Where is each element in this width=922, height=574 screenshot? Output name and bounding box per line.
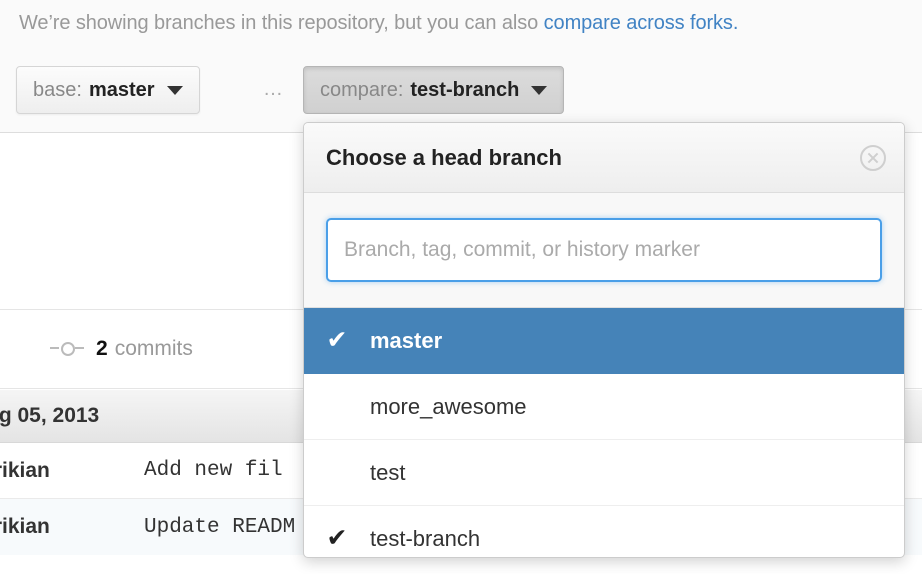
base-branch-prefix: base:: [33, 80, 82, 100]
list-item[interactable]: ✔ master: [304, 308, 904, 374]
list-item[interactable]: ✔ test-branch: [304, 506, 904, 558]
chevron-down-icon: [167, 86, 183, 95]
commits-summary: 2 commits: [50, 337, 193, 361]
branch-name: test-branch: [370, 526, 480, 552]
commit-date-label: ug 05, 2013: [0, 404, 99, 428]
branch-filter-input[interactable]: [326, 218, 882, 282]
commit-author: torikian: [0, 459, 144, 483]
branch-notice-text: We’re showing branches in this repositor…: [19, 12, 738, 35]
commits-label: commits: [115, 337, 193, 361]
base-branch-button[interactable]: base: master: [16, 66, 200, 114]
commit-author: torikian: [0, 515, 144, 539]
head-branch-dropdown: Choose a head branch ✔ master more_aweso…: [303, 122, 905, 558]
notice-text-before: We’re showing branches in this repositor…: [19, 12, 544, 34]
branch-list: ✔ master more_awesome test ✔ test-branch: [304, 308, 904, 558]
base-branch-value: master: [89, 80, 155, 100]
commit-message: Update READM: [144, 516, 295, 539]
list-item[interactable]: test: [304, 440, 904, 506]
compare-branch-value: test-branch: [410, 80, 519, 100]
commits-count: 2: [96, 337, 108, 361]
branch-notice-band: We’re showing branches in this repositor…: [0, 0, 922, 133]
compare-branch-button[interactable]: compare: test-branch: [303, 66, 564, 114]
list-item[interactable]: more_awesome: [304, 374, 904, 440]
check-icon: ✔: [304, 526, 370, 551]
branch-name: more_awesome: [370, 394, 527, 420]
branch-name: test: [370, 460, 405, 486]
compare-branches-screen: We’re showing branches in this repositor…: [0, 0, 922, 574]
compare-across-forks-link[interactable]: compare across forks.: [544, 12, 739, 34]
commit-icon: [50, 342, 84, 356]
branch-name: master: [370, 328, 442, 354]
dropdown-filter-area: [304, 193, 904, 308]
dropdown-header: Choose a head branch: [304, 123, 904, 193]
compare-separator: …: [263, 78, 284, 101]
dropdown-title: Choose a head branch: [326, 145, 562, 171]
close-circle-icon[interactable]: [860, 145, 886, 171]
compare-branch-prefix: compare:: [320, 80, 403, 100]
check-icon: ✔: [304, 328, 370, 353]
chevron-down-icon: [531, 86, 547, 95]
commit-message: Add new fil: [144, 459, 283, 482]
